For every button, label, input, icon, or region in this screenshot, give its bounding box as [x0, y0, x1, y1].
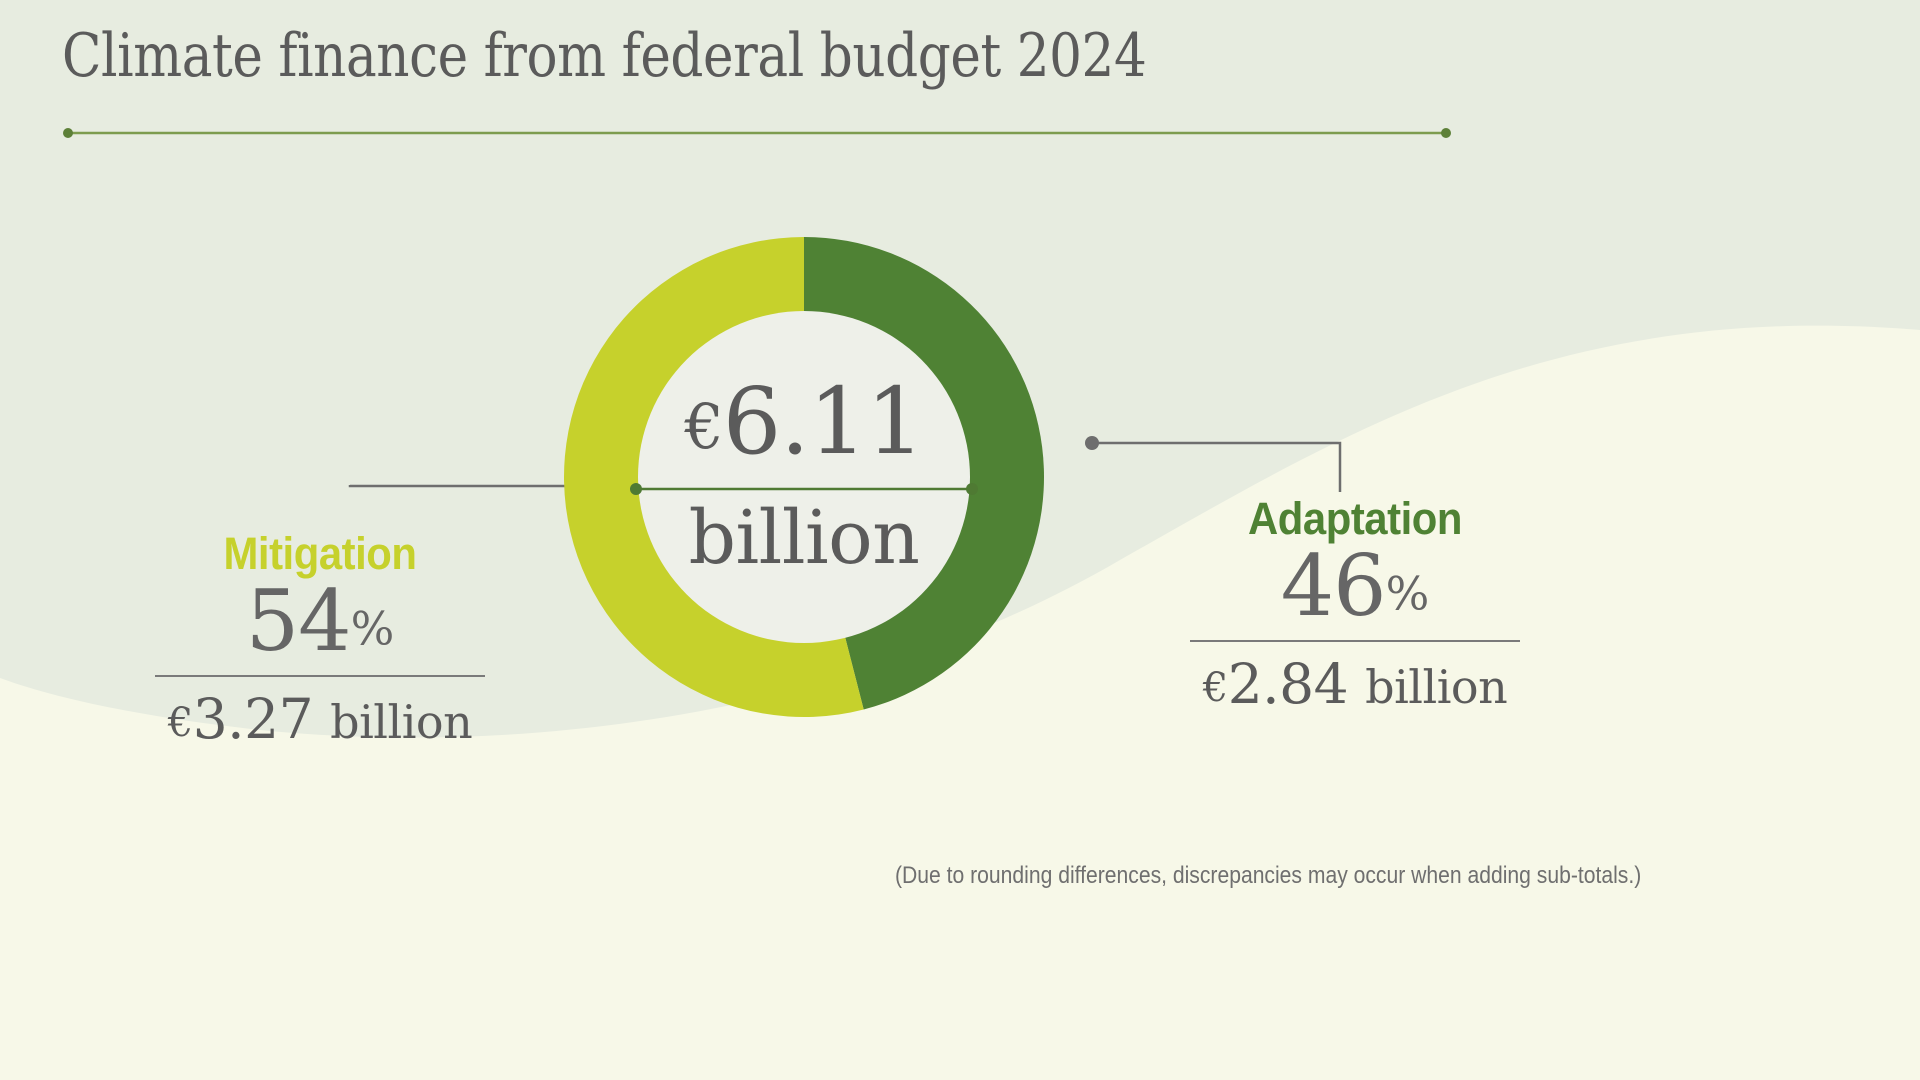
- adaptation-amount-unit: billion: [1365, 660, 1507, 714]
- legend-percent-mitigation: 54%: [120, 579, 520, 663]
- adaptation-percent-value: 46: [1281, 537, 1386, 635]
- donut-svg: [535, 208, 1073, 746]
- legend-adaptation: Adaptation 46% €2.84 billion: [1155, 495, 1555, 714]
- footnote: (Due to rounding differences, discrepanc…: [895, 862, 1641, 890]
- mitigation-percent-value: 54: [246, 572, 351, 670]
- legend-divider-adaptation: [1190, 640, 1520, 642]
- donut-hole: [638, 311, 970, 643]
- percent-sign: %: [351, 602, 395, 656]
- currency-symbol: €: [168, 700, 193, 746]
- page-title: Climate finance from federal budget 2024: [62, 22, 1266, 91]
- legend-divider-mitigation: [155, 675, 485, 677]
- donut-chart: €6.11 billion: [535, 208, 1073, 746]
- legend-amount-adaptation: €2.84 billion: [1155, 656, 1555, 714]
- adaptation-amount-value: 2.84: [1228, 652, 1348, 716]
- currency-symbol: €: [1203, 665, 1228, 711]
- title-block: Climate finance from federal budget 2024: [62, 22, 1462, 91]
- legend-label-adaptation: Adaptation: [1169, 495, 1541, 542]
- mitigation-amount-value: 3.27: [193, 687, 313, 751]
- title-underline: [62, 126, 1452, 138]
- percent-sign: %: [1386, 567, 1430, 621]
- legend-mitigation: Mitigation 54% €3.27 billion: [120, 530, 520, 749]
- mitigation-amount-unit: billion: [330, 695, 472, 749]
- infographic-canvas: Climate finance from federal budget 2024: [0, 0, 1920, 1080]
- legend-percent-adaptation: 46%: [1155, 544, 1555, 628]
- legend-amount-mitigation: €3.27 billion: [120, 691, 520, 749]
- legend-label-mitigation: Mitigation: [134, 530, 506, 577]
